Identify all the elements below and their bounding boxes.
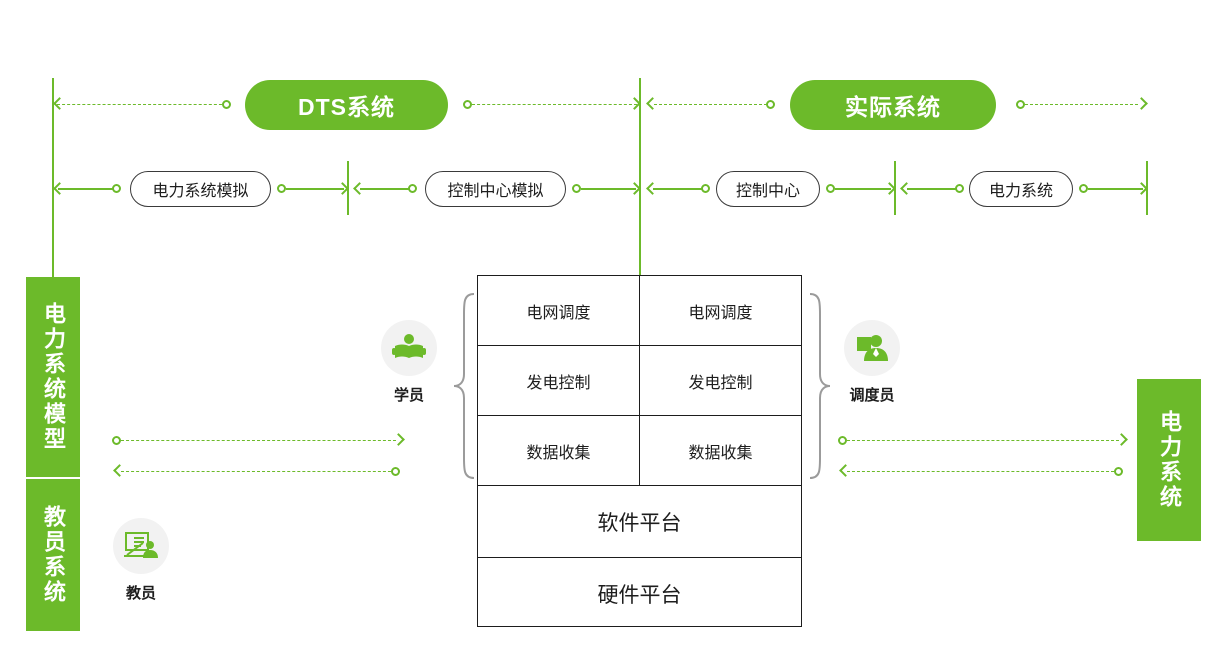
scope-arrow-real-right xyxy=(1137,99,1147,109)
table-row: 软件平台 xyxy=(478,485,801,557)
exchange-right-out-line xyxy=(847,440,1119,441)
table-row: 数据收集 数据收集 xyxy=(478,415,801,485)
role-instructor-label: 教员 xyxy=(96,582,186,603)
scope-arrow-dts-right xyxy=(630,99,640,109)
table-cell-dts-grid-dispatch: 电网调度 xyxy=(478,276,639,345)
table-row: 电网调度 电网调度 xyxy=(478,276,801,345)
exchange-left-in-dot xyxy=(391,467,400,476)
role-dispatcher[interactable]: 调度员 xyxy=(827,320,917,405)
sub-line-ps-left xyxy=(907,188,959,190)
exchange-right-out-dot xyxy=(838,436,847,445)
table-cell-dts-data-collection: 数据收集 xyxy=(478,416,639,485)
sub-arrow-cc-right xyxy=(885,184,895,194)
sub-dot-sim-right xyxy=(277,184,286,193)
sub-line-sim-left xyxy=(58,188,116,190)
table-row: 硬件平台 xyxy=(478,557,801,629)
instructor-whiteboard-icon xyxy=(113,518,169,574)
pill-control-center[interactable]: 控制中心 xyxy=(716,171,820,207)
sub-arrow-ps-right xyxy=(1137,184,1147,194)
exchange-right-out-arrow xyxy=(1117,435,1127,445)
scope-dot-dts-right xyxy=(463,100,472,109)
sub-dot-cc-left xyxy=(701,184,710,193)
scope-line-real-left xyxy=(654,104,767,105)
table-cell-software-platform: 软件平台 xyxy=(478,486,801,557)
diagram-canvas: DTS系统 实际系统 电力系统模拟 控制中心模拟 控制中心 电力系统 xyxy=(0,0,1225,664)
pill-power-system-sim-label: 电力系统模拟 xyxy=(152,177,248,201)
sub-line-cc-left xyxy=(653,188,705,190)
sub-dot-ps-left xyxy=(955,184,964,193)
table-cell-hardware-platform: 硬件平台 xyxy=(478,558,801,629)
table-cell-real-grid-dispatch: 电网调度 xyxy=(639,276,801,345)
role-student-label: 学员 xyxy=(364,384,454,405)
pill-control-center-sim[interactable]: 控制中心模拟 xyxy=(425,171,566,207)
pill-control-center-sim-label: 控制中心模拟 xyxy=(447,177,543,201)
scope-dot-real-right xyxy=(1016,100,1025,109)
sub-arrow-cc-sim-right xyxy=(630,184,640,194)
role-student[interactable]: 学员 xyxy=(364,320,454,405)
sub-dot-sim-left xyxy=(112,184,121,193)
sidebar-power-system-model-label: 电力系统模型 xyxy=(37,302,69,452)
exchange-left-out-dot xyxy=(112,436,121,445)
sub-line-cc-sim-left xyxy=(360,188,412,190)
brace-left xyxy=(452,292,476,480)
table-cell-real-data-collection: 数据收集 xyxy=(639,416,801,485)
scope-arrow-dts-left xyxy=(52,99,62,109)
banner-dts-system[interactable]: DTS系统 xyxy=(245,80,448,130)
sub-dot-cc-sim-right xyxy=(572,184,581,193)
banner-real-label: 实际系统 xyxy=(845,88,941,122)
table-cell-dts-generation-control: 发电控制 xyxy=(478,346,639,415)
sub-dot-cc-right xyxy=(826,184,835,193)
exchange-left-out-arrow xyxy=(394,435,404,445)
scope-dot-real-left xyxy=(766,100,775,109)
banner-real-system[interactable]: 实际系统 xyxy=(790,80,996,130)
exchange-left-out-line xyxy=(121,440,396,441)
scope-line-dts-left xyxy=(57,104,227,105)
sidebar-instructor-system-label: 教员系统 xyxy=(37,505,69,605)
sub-dot-ps-right xyxy=(1079,184,1088,193)
sidebar-power-system-model[interactable]: 电力系统模型 xyxy=(26,277,80,477)
table-cell-real-generation-control: 发电控制 xyxy=(639,346,801,415)
pill-power-system[interactable]: 电力系统 xyxy=(969,171,1073,207)
scope-line-real-right xyxy=(1025,104,1138,105)
sidebar-power-system-right[interactable]: 电力系统 xyxy=(1137,379,1201,541)
role-dispatcher-label: 调度员 xyxy=(827,384,917,405)
scope-dot-dts-left xyxy=(222,100,231,109)
sidebar-instructor-system[interactable]: 教员系统 xyxy=(26,479,80,631)
banner-dts-label: DTS系统 xyxy=(298,88,395,122)
table-row: 发电控制 发电控制 xyxy=(478,345,801,415)
pill-power-system-sim[interactable]: 电力系统模拟 xyxy=(130,171,271,207)
pill-control-center-label: 控制中心 xyxy=(736,177,800,201)
sub-arrow-sim-right xyxy=(338,184,348,194)
scope-line-dts-right xyxy=(472,104,637,105)
pill-power-system-label: 电力系统 xyxy=(989,177,1053,201)
sidebar-power-system-right-label: 电力系统 xyxy=(1153,410,1185,510)
dispatcher-person-icon xyxy=(844,320,900,376)
role-instructor[interactable]: 教员 xyxy=(96,518,186,603)
sub-dot-cc-sim-left xyxy=(408,184,417,193)
student-reading-icon xyxy=(381,320,437,376)
exchange-left-in-line xyxy=(121,471,396,472)
platform-stack-table: 电网调度 电网调度 发电控制 发电控制 数据收集 数据收集 软件平台 硬件平台 xyxy=(477,275,802,627)
exchange-right-in-line xyxy=(847,471,1119,472)
exchange-right-in-dot xyxy=(1114,467,1123,476)
